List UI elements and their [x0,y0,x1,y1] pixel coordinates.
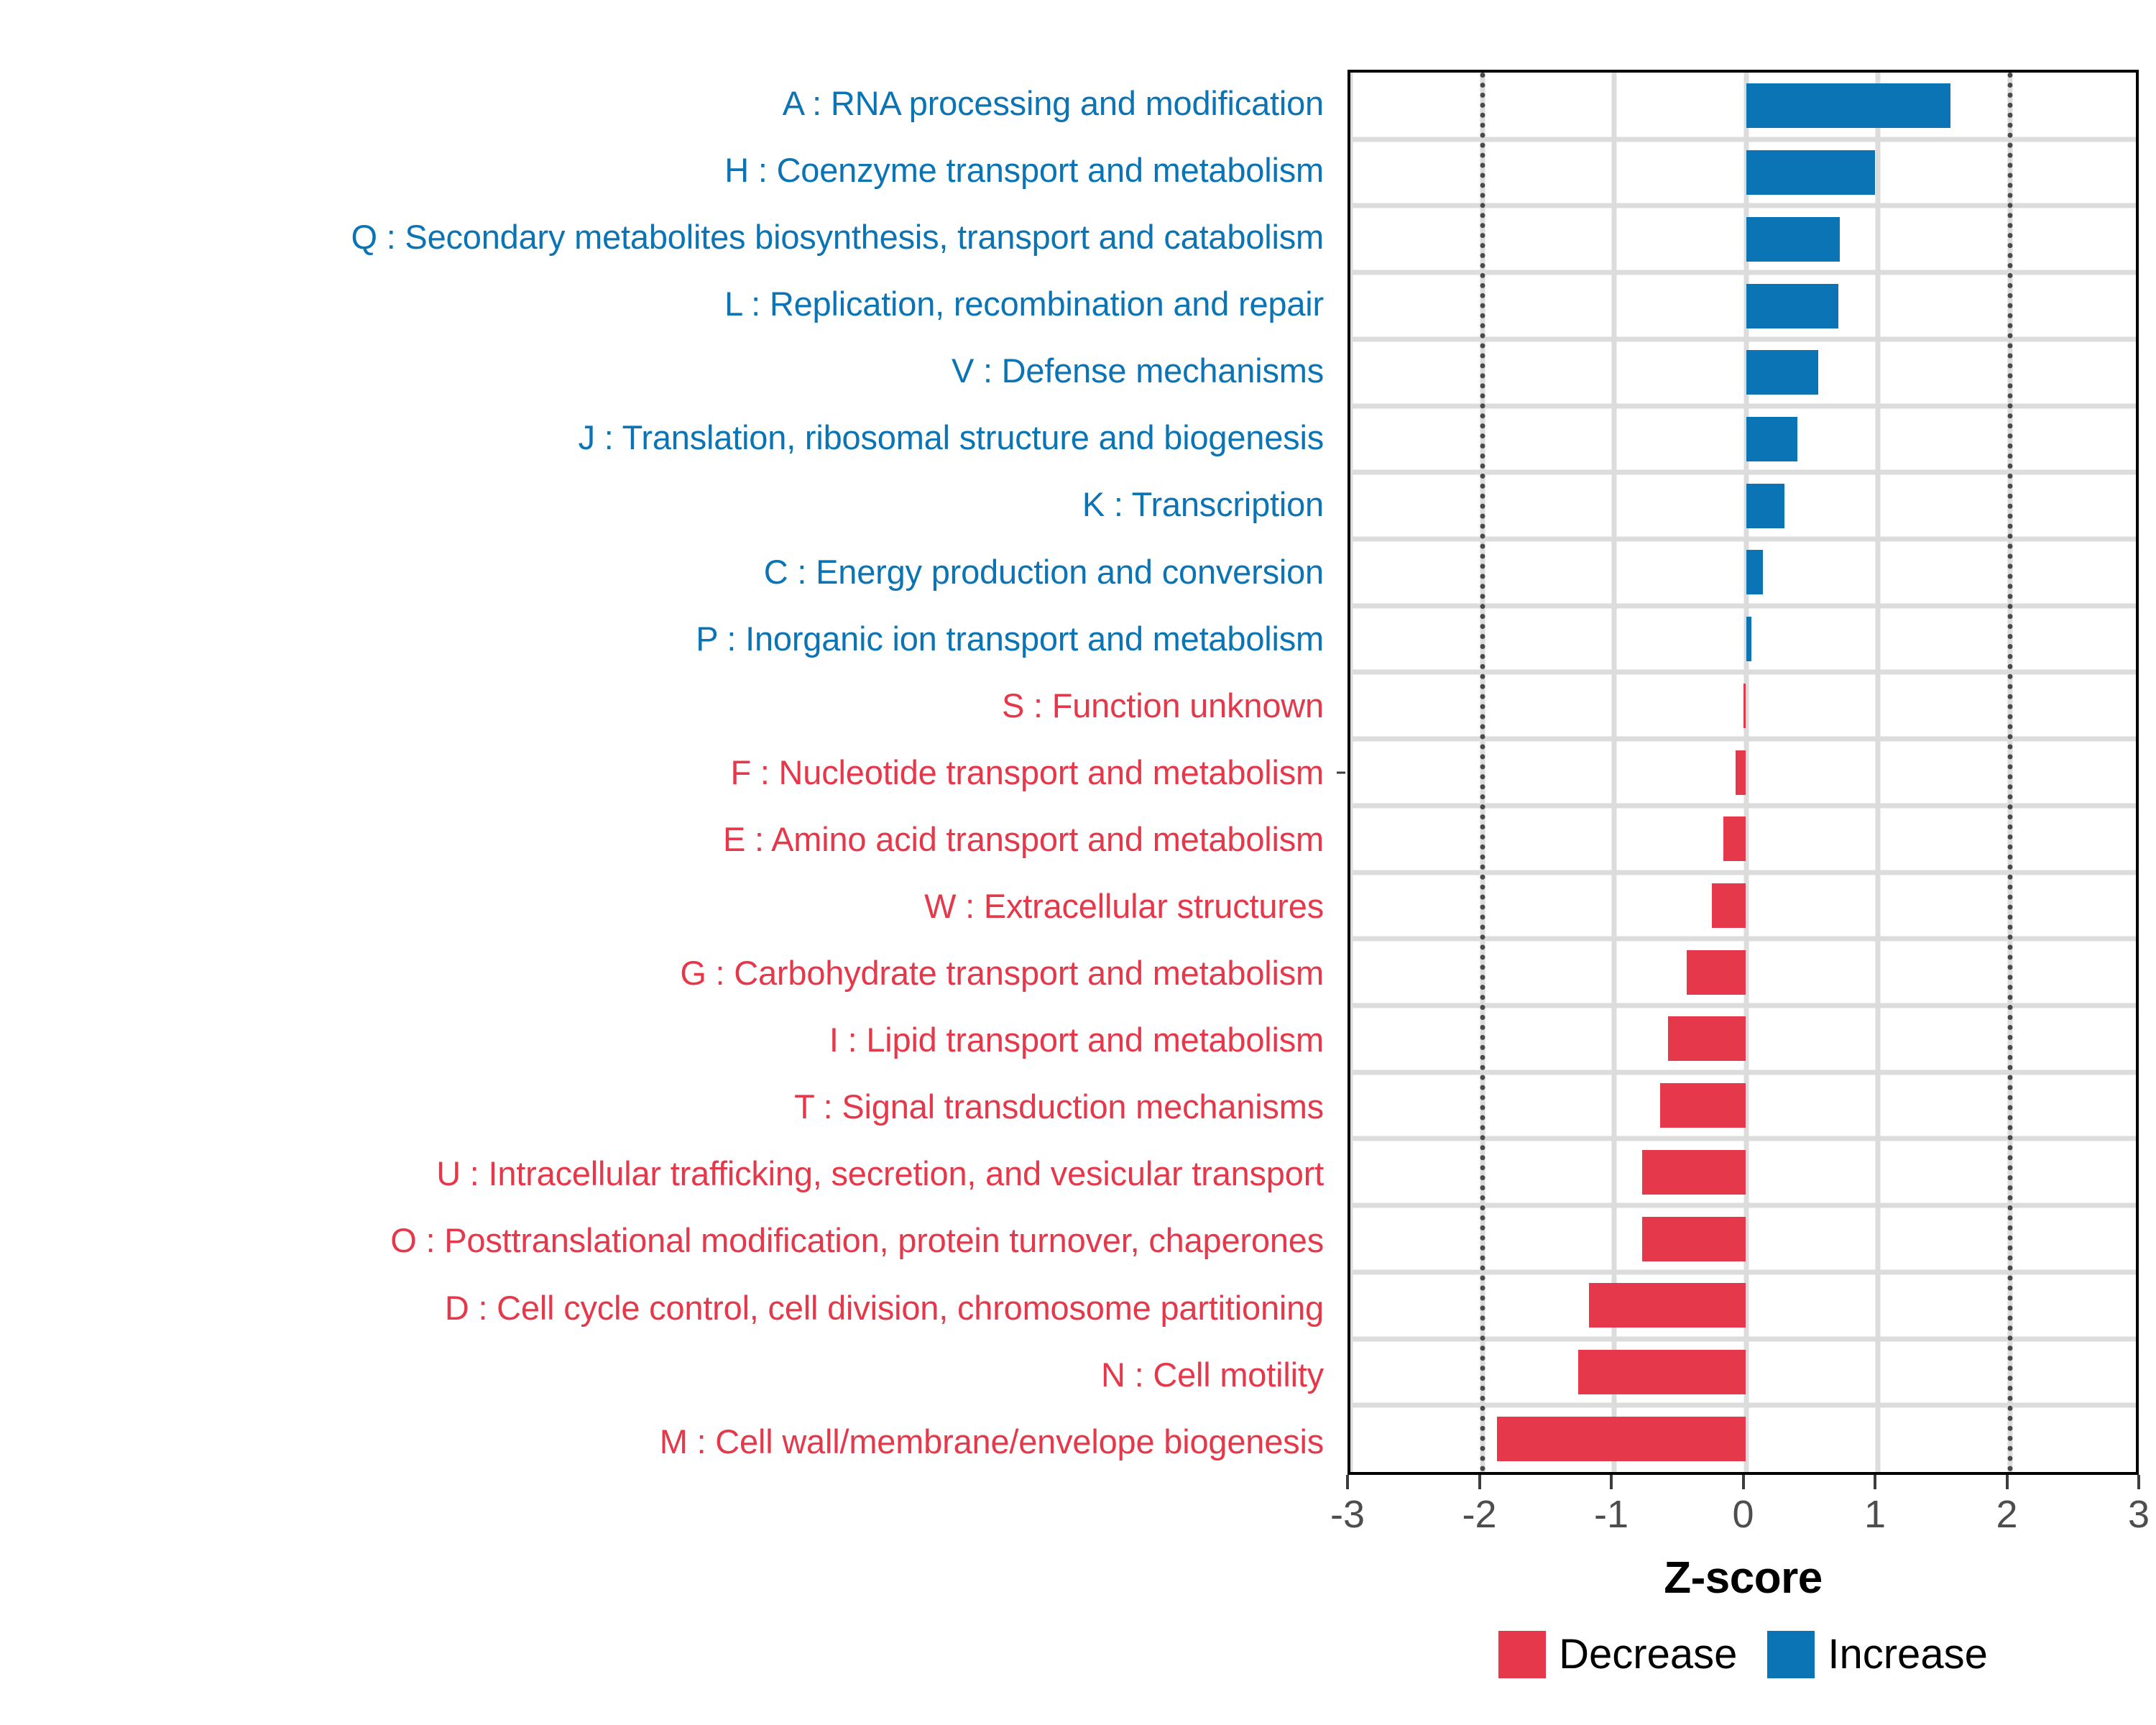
x-axis-tick-label: 3 [2128,1492,2150,1537]
category-label: S : Function unknown [1002,688,1324,723]
category-label-row: W : Extracellular structures [0,873,1337,939]
bar [1746,83,1950,128]
bar-row [1350,1272,2136,1339]
category-label-row: T : Signal transduction mechanisms [0,1073,1337,1140]
bar [1746,217,1840,262]
x-axis-tick-label: 2 [1996,1492,2017,1537]
bar [1642,1217,1746,1261]
category-label: W : Extracellular structures [924,888,1324,924]
category-label: I : Lipid transport and metabolism [829,1022,1324,1057]
legend-item[interactable]: Increase [1767,1630,1987,1678]
bar-row [1350,806,2136,873]
bar [1668,1016,1746,1061]
bar-row [1350,139,2136,206]
category-label: L : Replication, recombination and repai… [724,286,1324,321]
category-label-row: A : RNA processing and modification [0,70,1337,137]
bar-row [1350,606,2136,673]
bar-row [1350,939,2136,1006]
bar-row [1350,1205,2136,1272]
bar [1746,550,1764,594]
category-label: V : Defense mechanisms [952,353,1324,388]
category-label-row: F : Nucleotide transport and metabolism [0,739,1337,806]
bar [1746,150,1876,195]
bar-row [1350,1139,2136,1206]
category-label-row: U : Intracellular trafficking, secretion… [0,1141,1337,1207]
category-label: E : Amino acid transport and metabolism [723,822,1324,857]
bar-row [1350,873,2136,939]
bar-row [1350,272,2136,339]
category-label: O : Posttranslational modification, prot… [390,1223,1324,1258]
bar [1687,950,1746,995]
bar [1497,1417,1746,1461]
category-label-row: L : Replication, recombination and repai… [0,270,1337,337]
category-label: T : Signal transduction mechanisms [794,1089,1324,1124]
category-label: A : RNA processing and modification [783,86,1324,121]
bar [1746,417,1798,461]
category-label-row: S : Function unknown [0,672,1337,739]
x-axis-tick-mark [2137,1475,2140,1489]
bar-row [1350,739,2136,806]
legend-label: Increase [1828,1630,1987,1678]
category-label-row: D : Cell cycle control, cell division, c… [0,1274,1337,1341]
bar [1660,1083,1746,1128]
category-label: U : Intracellular trafficking, secretion… [436,1156,1324,1191]
bar [1712,883,1746,928]
x-axis-tick-mark [1610,1475,1613,1489]
x-axis-tick-label: -1 [1594,1492,1628,1537]
bar-row [1350,206,2136,272]
legend: DecreaseIncrease [1347,1630,2139,1678]
x-axis-tick-label: -3 [1330,1492,1365,1537]
x-axis-tick-mark [1874,1475,1876,1489]
bar [1746,617,1751,661]
bar-row [1350,1072,2136,1139]
category-label: J : Translation, ribosomal structure and… [579,420,1324,455]
category-label-row: I : Lipid transport and metabolism [0,1006,1337,1073]
y-axis-tick-mark [1337,771,1345,773]
bar [1589,1283,1746,1328]
category-label: Q : Secondary metabolites biosynthesis, … [351,219,1324,254]
category-label-row: O : Posttranslational modification, prot… [0,1207,1337,1274]
category-label: F : Nucleotide transport and metabolism [730,755,1324,790]
legend-swatch [1498,1631,1546,1678]
bars-layer [1350,73,2136,1472]
bar-row [1350,1339,2136,1406]
category-label: H : Coenzyme transport and metabolism [724,152,1324,188]
bar [1723,816,1746,861]
bar-row [1350,1006,2136,1072]
bar-row [1350,1405,2136,1472]
category-label-row: J : Translation, ribosomal structure and… [0,404,1337,471]
bar [1642,1150,1746,1195]
bar-row [1350,539,2136,606]
category-label: N : Cell motility [1101,1357,1324,1392]
bar [1746,484,1784,528]
category-label: M : Cell wall/membrane/envelope biogenes… [660,1424,1324,1459]
category-label-row: P : Inorganic ion transport and metaboli… [0,605,1337,672]
bar-row [1350,672,2136,739]
category-label-row: N : Cell motility [0,1341,1337,1408]
category-label-row: K : Transcription [0,471,1337,538]
category-label-row: E : Amino acid transport and metabolism [0,806,1337,873]
x-axis-tick-mark [2006,1475,2009,1489]
legend-swatch [1767,1631,1815,1678]
bar-row [1350,406,2136,473]
plot-panel [1347,70,2139,1475]
x-axis-title: Z-score [1347,1552,2139,1604]
category-label: K : Transcription [1082,487,1324,522]
legend-label: Decrease [1559,1630,1737,1678]
x-axis-tick-mark [1478,1475,1481,1489]
bar [1743,684,1746,728]
x-axis-tick-label: 0 [1732,1492,1754,1537]
category-label: P : Inorganic ion transport and metaboli… [696,621,1324,656]
x-axis-tick-mark [1346,1475,1349,1489]
category-label: C : Energy production and conversion [764,554,1324,589]
category-label: G : Carbohydrate transport and metabolis… [680,955,1324,990]
cog-zscore-bar-chart: A : RNA processing and modificationH : C… [0,0,2156,1725]
x-axis-tick-label: 1 [1864,1492,1886,1537]
x-axis-tick-label: -2 [1462,1492,1496,1537]
category-label-row: V : Defense mechanisms [0,337,1337,404]
bar [1746,350,1819,395]
category-label-row: Q : Secondary metabolites biosynthesis, … [0,203,1337,270]
x-axis-tick-mark [1742,1475,1745,1489]
category-label-row: C : Energy production and conversion [0,538,1337,605]
category-label-row: G : Carbohydrate transport and metabolis… [0,939,1337,1006]
bar [1736,750,1746,795]
category-axis-labels: A : RNA processing and modificationH : C… [0,70,1337,1475]
bar [1578,1350,1746,1394]
legend-item[interactable]: Decrease [1498,1630,1737,1678]
bar [1746,284,1838,328]
bar-row [1350,339,2136,406]
category-label: D : Cell cycle control, cell division, c… [445,1290,1324,1325]
category-label-row: M : Cell wall/membrane/envelope biogenes… [0,1408,1337,1475]
bar-row [1350,73,2136,139]
category-label-row: H : Coenzyme transport and metabolism [0,137,1337,203]
bar-row [1350,472,2136,539]
